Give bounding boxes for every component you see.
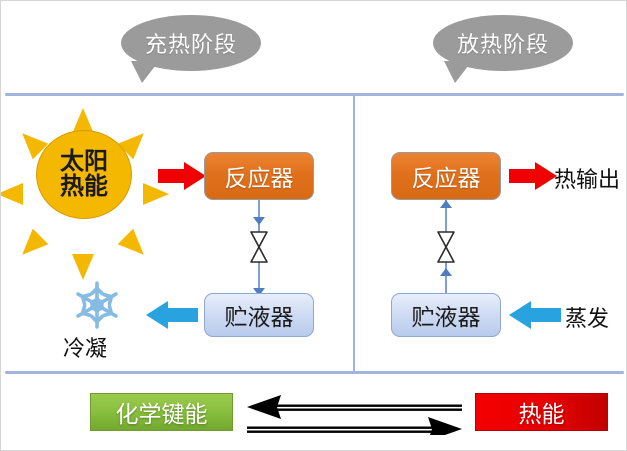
right-valve-icon	[435, 229, 457, 265]
phase-bubble-charging-tail	[131, 61, 159, 83]
right-pipe-arrow-up-icon	[440, 200, 452, 208]
divider-middle-vertical	[353, 94, 355, 372]
right-pipe-arrow-up-icon	[440, 268, 452, 276]
evaporation-label: 蒸发	[565, 301, 609, 333]
right-reactor-box: 反应器	[391, 152, 501, 200]
snowflake-icon	[71, 279, 123, 336]
diagram-canvas: 充热阶段 放热阶段 太阳 热能 反应器	[0, 0, 627, 451]
sun-ray-icon	[72, 254, 94, 280]
divider-top	[5, 93, 624, 96]
chemical-energy-label: 化学键能	[116, 395, 208, 429]
left-tank-box: 贮液器	[204, 293, 314, 337]
heat-output-arrow-icon	[509, 162, 557, 190]
right-tank-box: 贮液器	[391, 293, 501, 337]
chemical-energy-box: 化学键能	[90, 393, 233, 431]
sun-ray-icon	[118, 229, 152, 263]
reversible-arrows-icon	[247, 395, 462, 440]
left-tank-label: 贮液器	[225, 298, 294, 332]
sun-ray-icon	[14, 229, 48, 263]
condensation-output-arrow-icon	[146, 301, 198, 329]
sun-graphic: 太阳 热能	[9, 114, 159, 234]
sun-label-line1: 太阳	[60, 150, 108, 174]
solar-input-arrow-icon	[158, 162, 206, 190]
thermal-energy-label: 热能	[519, 395, 565, 429]
left-pipe-arrow-down-icon	[253, 217, 265, 225]
right-reactor-label: 反应器	[412, 159, 481, 193]
sun-core-label: 太阳 热能	[36, 130, 132, 219]
left-valve-icon	[248, 229, 270, 265]
heat-output-label: 热输出	[554, 162, 620, 194]
left-reactor-label: 反应器	[225, 159, 294, 193]
sun-label-line2: 热能	[60, 175, 108, 199]
phase-bubble-charging-label: 充热阶段	[145, 27, 237, 59]
condensation-label: 冷凝	[63, 331, 107, 363]
thermal-energy-box: 热能	[475, 393, 608, 431]
evaporation-input-arrow-icon	[509, 301, 561, 329]
divider-bottom	[5, 371, 624, 374]
phase-bubble-discharging-label: 放热阶段	[457, 27, 549, 59]
left-reactor-box: 反应器	[204, 152, 314, 200]
phase-bubble-discharging-tail	[444, 61, 472, 83]
right-tank-label: 贮液器	[412, 298, 481, 332]
sun-ray-icon	[0, 183, 23, 205]
